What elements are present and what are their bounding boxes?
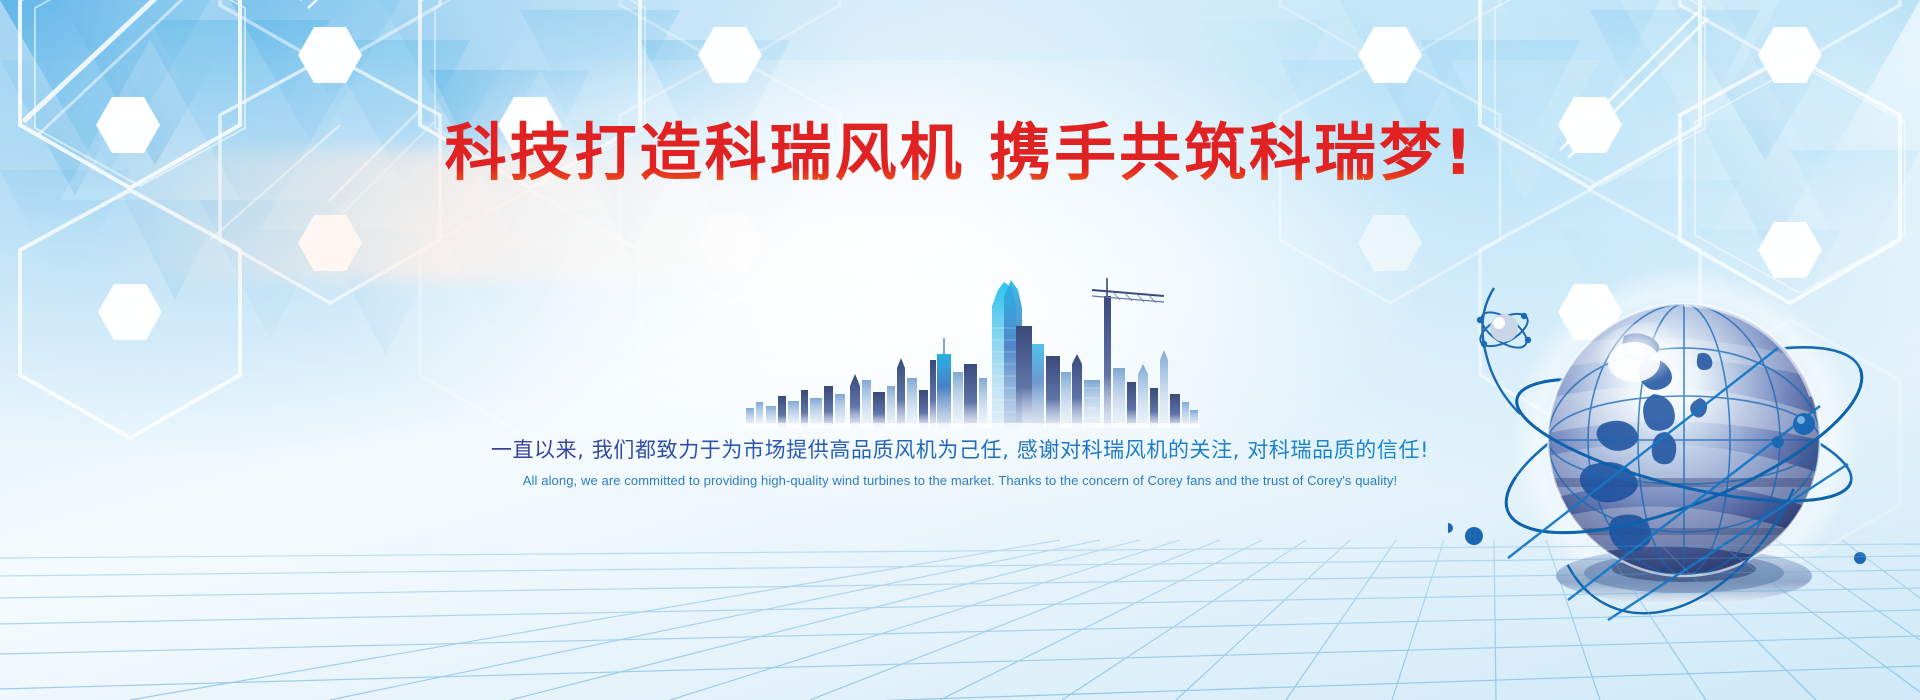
headline-container: 科技打造科瑞风机 携手共筑科瑞梦! (0, 118, 1920, 187)
promo-banner: 科技打造科瑞风机 携手共筑科瑞梦! (0, 0, 1920, 700)
city-skyline-illustration (740, 268, 1200, 428)
banner-headline: 科技打造科瑞风机 携手共筑科瑞梦! (439, 118, 1482, 187)
perspective-floor-grid (0, 440, 1920, 700)
